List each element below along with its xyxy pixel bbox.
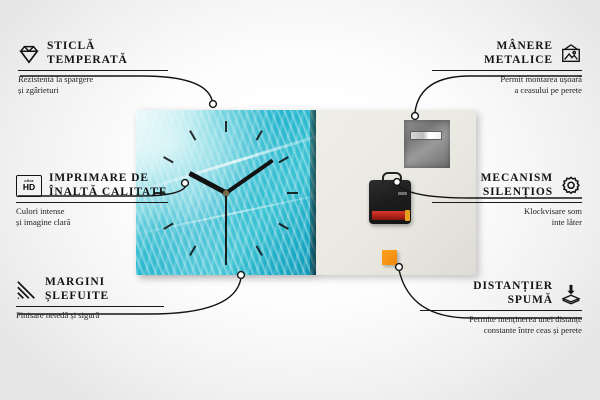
callout-rule bbox=[432, 70, 582, 71]
foam-spacer bbox=[382, 250, 397, 265]
callout-hd-print: ultra HD IMPRIMARE DE ÎNALTĂ CALITATE Cu… bbox=[16, 172, 168, 228]
callout-rule bbox=[432, 202, 582, 203]
callout-rule bbox=[18, 70, 168, 71]
spacer-arrow-icon bbox=[560, 283, 582, 305]
callout-metal-handles: MÂNERE METALICE Permit montarea ușoară a… bbox=[432, 40, 582, 96]
callout-description: Permit montarea ușoară a ceasului pe per… bbox=[432, 74, 582, 96]
metal-hanger bbox=[404, 120, 450, 168]
callout-foam-spacer: DISTANȚIER SPUMĂ Permite menținerea unei… bbox=[420, 280, 582, 336]
infographic-stage: STICLĂ TEMPERATĂ Rezistentă la spargere … bbox=[0, 0, 600, 400]
clock-center-cap bbox=[223, 190, 229, 196]
callout-header: DISTANȚIER SPUMĂ bbox=[420, 280, 582, 307]
callout-header: MÂNERE METALICE bbox=[432, 40, 582, 67]
wall-mount-icon bbox=[560, 43, 582, 65]
callout-description: Permite menținerea unei distanțe constan… bbox=[420, 314, 582, 336]
callout-title: MARGINI ȘLEFUITE bbox=[45, 276, 109, 303]
hanger-keyhole-slot bbox=[410, 131, 442, 140]
callout-description: Finisare netedă și sigură bbox=[16, 310, 164, 321]
battery-positive-terminal bbox=[405, 210, 410, 221]
callout-title: MÂNERE METALICE bbox=[484, 40, 553, 67]
callout-header: STICLĂ TEMPERATĂ bbox=[18, 40, 168, 67]
mechanism-label bbox=[398, 192, 407, 195]
callout-description: Klockvisare som inte låter bbox=[432, 206, 582, 228]
gear-icon bbox=[560, 175, 582, 197]
clock-tick bbox=[225, 121, 227, 132]
callout-rule bbox=[16, 202, 168, 203]
callout-header: MARGINI ȘLEFUITE bbox=[16, 276, 164, 303]
clock-tick bbox=[287, 192, 298, 194]
ultra-hd-icon-main-text: HD bbox=[23, 183, 35, 192]
ultra-hd-icon: ultra HD bbox=[16, 175, 42, 197]
callout-tempered-glass: STICLĂ TEMPERATĂ Rezistentă la spargere … bbox=[18, 40, 168, 96]
callout-rule bbox=[16, 306, 164, 307]
second-hand bbox=[225, 193, 227, 259]
endpoint-dot-glass bbox=[210, 101, 217, 108]
callout-title: STICLĂ TEMPERATĂ bbox=[47, 40, 128, 67]
callout-header: ultra HD IMPRIMARE DE ÎNALTĂ CALITATE bbox=[16, 172, 168, 199]
callout-description: Culori intense și imagine clară bbox=[16, 206, 168, 228]
callout-title: DISTANȚIER SPUMĂ bbox=[473, 280, 553, 307]
callout-silent-mechanism: MECANISM SILENȚIOS Klockvisare som inte … bbox=[432, 172, 582, 228]
callout-polished-edges: MARGINI ȘLEFUITE Finisare netedă și sigu… bbox=[16, 276, 164, 321]
quartz-mechanism bbox=[369, 180, 411, 224]
callout-rule bbox=[420, 310, 582, 311]
callout-title: IMPRIMARE DE ÎNALTĂ CALITATE bbox=[49, 172, 167, 199]
mechanism-hook bbox=[382, 172, 402, 184]
battery bbox=[372, 211, 408, 220]
callout-description: Rezistentă la spargere și zgârieturi bbox=[18, 74, 168, 96]
callout-title: MECANISM SILENȚIOS bbox=[481, 172, 553, 199]
callout-header: MECANISM SILENȚIOS bbox=[432, 172, 582, 199]
beveled-edge-icon bbox=[16, 279, 38, 301]
diamond-icon bbox=[18, 43, 40, 65]
